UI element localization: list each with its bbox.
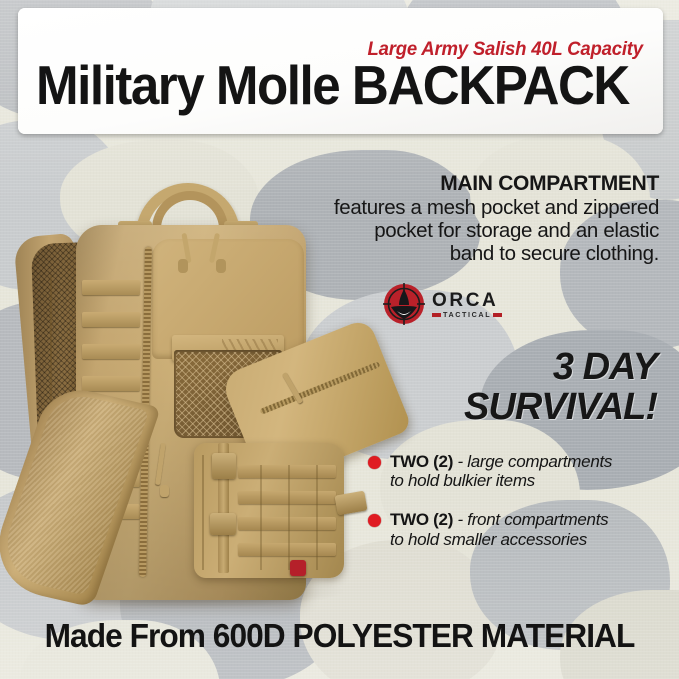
bullet-text: TWO (2) - front compartments to hold sma… <box>390 510 608 548</box>
bullet-line-2: to hold bulkier items <box>390 471 535 490</box>
backpack-cord-knot-right <box>216 259 226 273</box>
backpack-buckle-side <box>334 491 367 516</box>
backpack-front-compartment-seam <box>202 455 204 570</box>
molle-strap <box>82 312 140 327</box>
molle-strap <box>238 465 336 478</box>
survival-line-2: SURVIVAL! <box>464 388 657 428</box>
bullet-rest: - large compartments <box>453 452 612 471</box>
orca-dash-right-icon <box>493 313 502 317</box>
molle-tick <box>260 465 262 570</box>
orca-brand-text: ORCA <box>432 292 502 310</box>
orca-wordmark: ORCA TACTICAL <box>432 290 502 318</box>
backpack-brand-tab <box>290 560 306 576</box>
list-item: TWO (2) - front compartments to hold sma… <box>368 510 668 548</box>
bullet-rest: - front compartments <box>453 510 608 529</box>
product-image-backpack <box>6 175 396 595</box>
molle-tick <box>288 465 290 570</box>
molle-strap <box>238 517 336 530</box>
molle-strap <box>82 280 140 295</box>
bullet-lead: TWO (2) <box>390 452 453 471</box>
bullet-line-2: to hold smaller accessories <box>390 530 587 549</box>
orca-dash-left-icon <box>432 313 441 317</box>
orca-tactical-logo: ORCA TACTICAL <box>382 281 514 327</box>
orca-sub-row: TACTICAL <box>432 311 502 318</box>
bullet-text: TWO (2) - large compartments to hold bul… <box>390 452 612 490</box>
header-panel: Large Army Salish 40L Capacity Military … <box>18 8 663 134</box>
molle-strap <box>82 344 140 359</box>
backpack-buckle-lower <box>210 513 236 535</box>
backpack-front-molle-grid <box>238 465 338 570</box>
orca-sub-text: TACTICAL <box>443 311 491 318</box>
backpack-zipper-pull-tab <box>160 485 169 497</box>
footer-material-text: Made From 600D POLYESTER MATERIAL <box>14 617 666 655</box>
molle-strap <box>238 491 336 504</box>
backpack-buckle-upper <box>212 453 236 479</box>
molle-tick <box>316 465 318 570</box>
survival-line-1: 3 DAY <box>464 348 657 388</box>
feature-bullet-list: TWO (2) - large compartments to hold bul… <box>368 452 668 569</box>
molle-strap <box>82 376 140 391</box>
molle-strap <box>238 543 336 556</box>
bullet-lead: TWO (2) <box>390 510 453 529</box>
backpack-cord-knot-left <box>178 259 188 273</box>
list-item: TWO (2) - large compartments to hold bul… <box>368 452 668 490</box>
page-title: Military Molle BACKPACK <box>36 58 629 113</box>
product-ad-canvas: Large Army Salish 40L Capacity Military … <box>0 0 679 679</box>
survival-callout: 3 DAY SURVIVAL! <box>464 348 657 427</box>
